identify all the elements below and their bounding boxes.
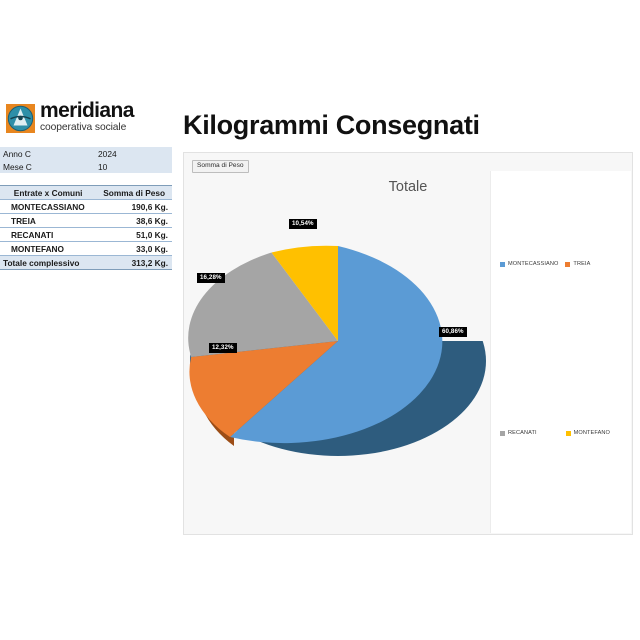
legend-item-treia[interactable]: TREIA xyxy=(565,261,590,267)
table-row: MONTEFANO 33,0 Kg. xyxy=(0,242,172,256)
legend-item-montecassiano[interactable]: MONTECASSIANO xyxy=(500,261,558,267)
column-header-comuni: Entrate x Comuni xyxy=(0,186,96,200)
legend-row-bottom: RECANATI MONTEFANO xyxy=(491,430,631,436)
data-label-montefano: 10,54% xyxy=(289,219,317,229)
legend-row-top: MONTECASSIANO TREIA xyxy=(491,261,631,267)
report-summary-panel: meridiana cooperativa sociale Anno C 202… xyxy=(0,96,172,270)
row-value-recanati: 51,0 Kg. xyxy=(96,228,172,242)
data-label-montecassiano: 60,86% xyxy=(439,327,467,337)
table-row: RECANATI 51,0 Kg. xyxy=(0,228,172,242)
meridiana-logo-icon xyxy=(6,104,35,133)
filter-chip-somma-di-peso[interactable]: Somma di Peso xyxy=(192,160,249,173)
pie-chart-plot: 10,54% 16,28% 12,32% 60,86% xyxy=(186,201,491,531)
parameter-value-mese: 10 xyxy=(98,160,172,173)
brand-tagline: cooperativa sociale xyxy=(40,122,134,133)
total-value: 313,2 Kg. xyxy=(96,256,172,270)
parameter-label-anno: Anno C xyxy=(0,147,98,160)
brand-logo: meridiana cooperativa sociale xyxy=(0,96,172,140)
row-value-treia: 38,6 Kg. xyxy=(96,214,172,228)
legend-label-montefano: MONTEFANO xyxy=(574,430,610,436)
table-header-row: Entrate x Comuni Somma di Peso xyxy=(0,186,172,200)
total-label: Totale complessivo xyxy=(0,256,96,270)
data-label-recanati: 16,28% xyxy=(197,273,225,283)
legend-swatch-recanati xyxy=(500,431,505,436)
brand-text: meridiana cooperativa sociale xyxy=(40,101,134,134)
page-title: Kilogrammi Consegnati xyxy=(183,110,480,141)
parameter-row: Mese C 10 xyxy=(0,160,172,173)
parameter-label-mese: Mese C xyxy=(0,160,98,173)
row-value-montefano: 33,0 Kg. xyxy=(96,242,172,256)
pivot-table: Entrate x Comuni Somma di Peso MONTECASS… xyxy=(0,185,172,270)
legend-item-montefano[interactable]: MONTEFANO xyxy=(566,430,610,436)
legend-swatch-montefano xyxy=(566,431,571,436)
row-label-montecassiano: MONTECASSIANO xyxy=(0,200,96,214)
parameter-value-anno: 2024 xyxy=(98,147,172,160)
legend-label-treia: TREIA xyxy=(573,261,590,267)
legend-swatch-montecassiano xyxy=(500,262,505,267)
table-total-row: Totale complessivo 313,2 Kg. xyxy=(0,256,172,270)
legend-label-recanati: RECANATI xyxy=(508,430,537,436)
table-row: MONTECASSIANO 190,6 Kg. xyxy=(0,200,172,214)
row-label-recanati: RECANATI xyxy=(0,228,96,242)
brand-name: meridiana xyxy=(40,101,134,121)
row-label-treia: TREIA xyxy=(0,214,96,228)
table-row: TREIA 38,6 Kg. xyxy=(0,214,172,228)
data-label-treia: 12,32% xyxy=(209,343,237,353)
legend-swatch-treia xyxy=(565,262,570,267)
chart-legend: MONTECASSIANO TREIA RECANATI MONTEFANO xyxy=(490,171,631,533)
legend-item-recanati[interactable]: RECANATI xyxy=(500,430,537,436)
report-parameters-table: Anno C 2024 Mese C 10 xyxy=(0,147,172,173)
legend-label-montecassiano: MONTECASSIANO xyxy=(508,261,558,267)
row-value-montecassiano: 190,6 Kg. xyxy=(96,200,172,214)
parameter-row: Anno C 2024 xyxy=(0,147,172,160)
row-label-montefano: MONTEFANO xyxy=(0,242,96,256)
column-header-somma-peso: Somma di Peso xyxy=(96,186,172,200)
chart-container: Somma di Peso Totale xyxy=(183,152,633,535)
